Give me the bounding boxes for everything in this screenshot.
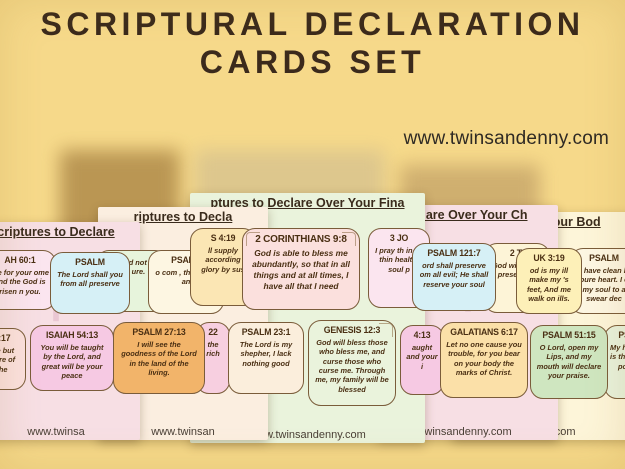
card-body: The Lord is my shepher, I lack nothing g… bbox=[234, 340, 298, 368]
card-ref: UK 3:19 bbox=[523, 253, 574, 263]
card-body: You will be taught by the Lord, and grea… bbox=[36, 343, 108, 380]
card-ref: PS bbox=[611, 330, 625, 340]
card-isaiah-60-1[interactable]: AH 60:1 ine for your ome and the God is … bbox=[0, 250, 56, 310]
card-body: ine for your ome and the God is risen n … bbox=[0, 268, 50, 296]
card-body: I have clean h pure heart. I c my soul t… bbox=[576, 266, 625, 303]
card-ref: AH 60:1 bbox=[0, 255, 49, 265]
card-psalm-27-13[interactable]: PSALM 27:13 I will see the goodness of t… bbox=[113, 322, 205, 394]
card-galatians-6-17[interactable]: GALATIANS 6:17 Let no one cause you trou… bbox=[440, 322, 528, 398]
card-ref: 3 JO bbox=[375, 233, 423, 243]
card-ref: 2 CORINTHIANS 9:8 bbox=[251, 233, 352, 245]
sheet-children-left-heading: criptures to Declare bbox=[0, 222, 140, 239]
card-ref: PSALM 51:15 bbox=[538, 330, 601, 340]
card-body: ord shall preserve om all evil; He shall… bbox=[418, 261, 490, 289]
card-body: God is able to bless me abundantly, so t… bbox=[248, 248, 354, 292]
card-body: O Lord, open my Lips, and my mouth will … bbox=[536, 343, 602, 380]
card-8-17-left[interactable]: 8:17 die but clare of the bbox=[0, 328, 26, 390]
card-ref: 8:17 bbox=[0, 333, 19, 343]
title-line-2: CARDS SET bbox=[0, 44, 625, 82]
card-psalm-23-1[interactable]: PSALM 23:1 The Lord is my shepher, I lac… bbox=[228, 322, 304, 394]
card-ref: PSALM 27:13 bbox=[121, 327, 197, 337]
card-habakkuk-3-19[interactable]: UK 3:19 od is my ill make my 's feet, An… bbox=[516, 248, 582, 314]
card-isaiah-54-13[interactable]: ISAIAH 54:13 You will be taught by the L… bbox=[30, 325, 114, 391]
card-psalm-unknown-left[interactable]: PSALM The Lord shall you from all preser… bbox=[50, 252, 130, 314]
card-ref: PSALM 23:1 bbox=[236, 327, 297, 337]
card-4-13-right[interactable]: 4:13 aught and your i bbox=[400, 325, 444, 395]
card-2-corinthians-9-8[interactable]: 2 CORINTHIANS 9:8 God is able to bless m… bbox=[242, 228, 360, 310]
card-ref: PSALM 121:7 bbox=[420, 248, 488, 258]
site-url: www.twinsandenny.com bbox=[404, 128, 609, 150]
card-ref: S 4:19 bbox=[197, 233, 248, 243]
card-psalm-51-15[interactable]: PSALM 51:15 O Lord, open my Lips, and my… bbox=[530, 325, 608, 399]
card-ref: PSALM bbox=[577, 253, 625, 263]
card-psalm-121-7[interactable]: PSALM 121:7 ord shall preserve om all ev… bbox=[412, 243, 496, 311]
card-ref: GALATIANS 6:17 bbox=[448, 327, 520, 337]
card-genesis-12-3[interactable]: GENESIS 12:3 God will bless those who bl… bbox=[308, 320, 396, 406]
card-body: The Lord shall you from all preserve bbox=[56, 270, 124, 289]
poster-title: SCRIPTURAL DECLARATION CARDS SET bbox=[0, 0, 625, 82]
card-body: I will see the goodness of the Lord in t… bbox=[119, 340, 199, 377]
card-body: My hear is th my por bbox=[610, 343, 625, 371]
card-ref: 4:13 bbox=[407, 330, 437, 340]
card-body: Let no one cause you trouble, for you be… bbox=[446, 340, 522, 377]
card-ref: GENESIS 12:3 bbox=[316, 325, 388, 335]
poster-stage: SCRIPTURAL DECLARATION CARDS SET www.twi… bbox=[0, 0, 625, 469]
card-body: the rich bbox=[202, 340, 224, 359]
card-ref: PSALM bbox=[58, 257, 123, 267]
title-line-1: SCRIPTURAL DECLARATION bbox=[0, 6, 625, 44]
card-body: die but clare of the bbox=[0, 346, 20, 374]
card-body: od is my ill make my 's feet, And me wal… bbox=[522, 266, 576, 303]
sheet-children-left-footer: www.twinsa bbox=[0, 426, 140, 438]
card-body: aught and your i bbox=[406, 343, 438, 371]
card-body: God will bless those who bless me, and c… bbox=[314, 338, 390, 394]
card-ref: 22 bbox=[203, 327, 224, 337]
card-ref: ISAIAH 54:13 bbox=[38, 330, 106, 340]
